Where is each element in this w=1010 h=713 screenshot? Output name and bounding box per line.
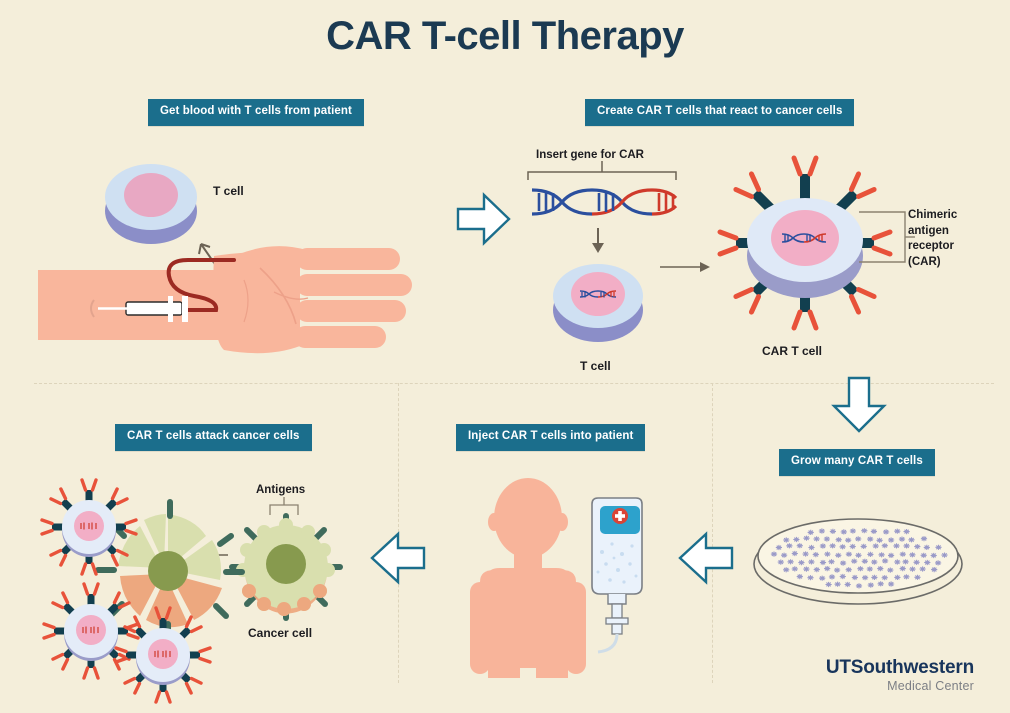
arrow-inject-to-attack: [368, 531, 426, 587]
attacking-car-t-cell-1: [34, 472, 144, 582]
arm-and-hand-illustration: [38, 238, 468, 368]
step-label-attack: CAR T cells attack cancer cells: [115, 424, 312, 451]
step-label-get-blood: Get blood with T cells from patient: [148, 99, 364, 126]
dna-helix-illustration: [524, 166, 684, 236]
car-t-cell-label: CAR T cell: [762, 344, 822, 358]
car-label-line-3: receptor: [908, 240, 954, 252]
cancer-cell-label: Cancer cell: [248, 626, 312, 640]
arrow-grow-to-inject: [676, 531, 734, 587]
ut-southwestern-logo: UTSouthwestern Medical Center: [826, 658, 974, 693]
chimeric-antigen-receptor-label: Chimeric antigen receptor (CAR): [908, 208, 992, 270]
infographic-canvas: CAR T-cell Therapy Get blood with T cell…: [0, 0, 1010, 713]
insert-gene-label: Insert gene for CAR: [536, 149, 644, 161]
petri-dish-illustration: [748, 508, 968, 608]
arrow-create-to-grow: [832, 376, 890, 434]
step-label-create-car-t: Create CAR T cells that react to cancer …: [585, 99, 854, 126]
car-label-line-1: Chimeric: [908, 209, 957, 221]
page-title: CAR T-cell Therapy: [0, 14, 1010, 59]
step-label-inject: Inject CAR T cells into patient: [456, 424, 645, 451]
petri-dish-svg: [748, 508, 968, 608]
t-cell-label-1: T cell: [213, 184, 244, 198]
antigens-label: Antigens: [256, 484, 305, 496]
arrow-blood-to-create: [456, 192, 512, 248]
car-label-line-4: (CAR): [908, 256, 941, 268]
car-label-line-2: antigen: [908, 225, 949, 237]
logo-line-1: UTSouthwestern: [826, 658, 974, 678]
iv-bag-illustration: [578, 494, 658, 654]
attacking-car-t-cell-3: [108, 600, 218, 710]
t-cell-illustration-2: [543, 248, 653, 358]
t-cell-label-2: T cell: [580, 359, 611, 373]
arrow-tcell-to-cart: [660, 258, 716, 276]
logo-southwestern: Southwestern: [851, 657, 974, 678]
logo-ut: UT: [826, 657, 851, 678]
logo-line-2: Medical Center: [826, 680, 974, 693]
t-cell-svg-2: [543, 248, 653, 358]
step-label-grow-many: Grow many CAR T cells: [779, 449, 935, 476]
